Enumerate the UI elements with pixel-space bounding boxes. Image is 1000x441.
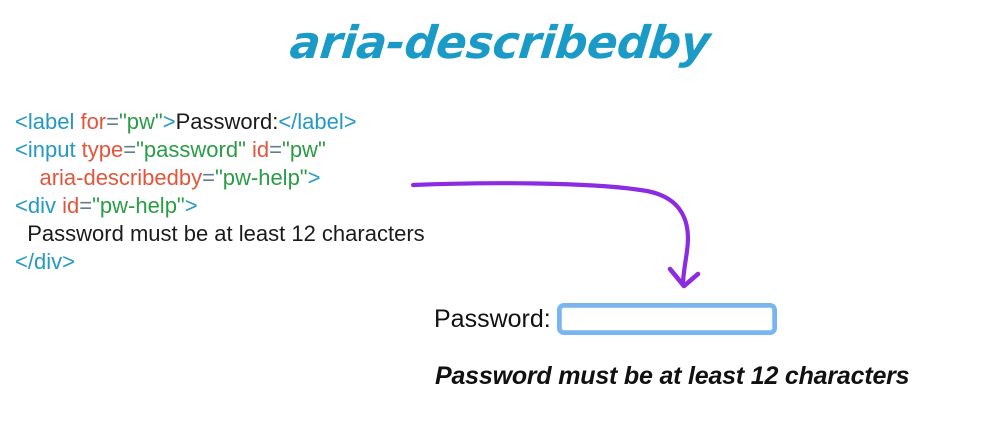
code-token-value: "pw" — [119, 109, 163, 134]
code-token-tag: </div> — [15, 249, 75, 274]
code-token-text: Password must be at least 12 characters — [27, 221, 424, 246]
code-token-equals: = — [106, 109, 119, 134]
code-line: Password must be at least 12 characters — [15, 220, 425, 248]
code-token-attribute: for — [80, 109, 106, 134]
code-token-tag: <input — [15, 137, 82, 162]
code-token-attribute: id — [252, 137, 269, 162]
code-token-equals: = — [269, 137, 282, 162]
code-token-tag: > — [308, 165, 321, 190]
code-line: <input type="password" id="pw" — [15, 136, 425, 164]
code-token-tag: <label — [15, 109, 80, 134]
code-snippet: <label for="pw">Password:</label><input … — [15, 108, 425, 276]
code-token-value: "pw" — [282, 137, 326, 162]
password-label: Password: — [434, 307, 551, 332]
code-line: <label for="pw">Password:</label> — [15, 108, 425, 136]
code-line: </div> — [15, 248, 425, 276]
code-token-equals: = — [79, 193, 92, 218]
code-indent — [15, 221, 27, 246]
code-token-tag: > — [185, 193, 198, 218]
code-token-attribute: aria-describedby — [39, 165, 202, 190]
password-help-text: Password must be at least 12 characters — [435, 362, 954, 391]
code-token-tag: <div — [15, 193, 62, 218]
describedby-to-widget-arrow — [395, 165, 725, 310]
code-token-tag: </label> — [278, 109, 356, 134]
code-token-text: Password: — [176, 109, 279, 134]
code-token-value: "password" — [136, 137, 246, 162]
code-token-value: "pw-help" — [215, 165, 308, 190]
code-token-equals: = — [123, 137, 136, 162]
code-line: <div id="pw-help"> — [15, 192, 425, 220]
password-input[interactable] — [561, 307, 773, 331]
rendered-form-example: Password: Password must be at least 12 c… — [434, 298, 954, 391]
code-token-tag: > — [163, 109, 176, 134]
code-token-attribute: id — [62, 193, 79, 218]
code-token-equals: = — [202, 165, 215, 190]
arrow-head-path — [670, 269, 698, 286]
code-line: aria-describedby="pw-help"> — [15, 164, 425, 192]
code-token-attribute: type — [82, 137, 124, 162]
arrow-curve-path — [413, 183, 688, 284]
code-token-value: "pw-help" — [92, 193, 185, 218]
page-title: aria-describedby — [0, 16, 1000, 69]
code-indent — [15, 165, 39, 190]
password-field-row: Password: — [434, 298, 954, 340]
